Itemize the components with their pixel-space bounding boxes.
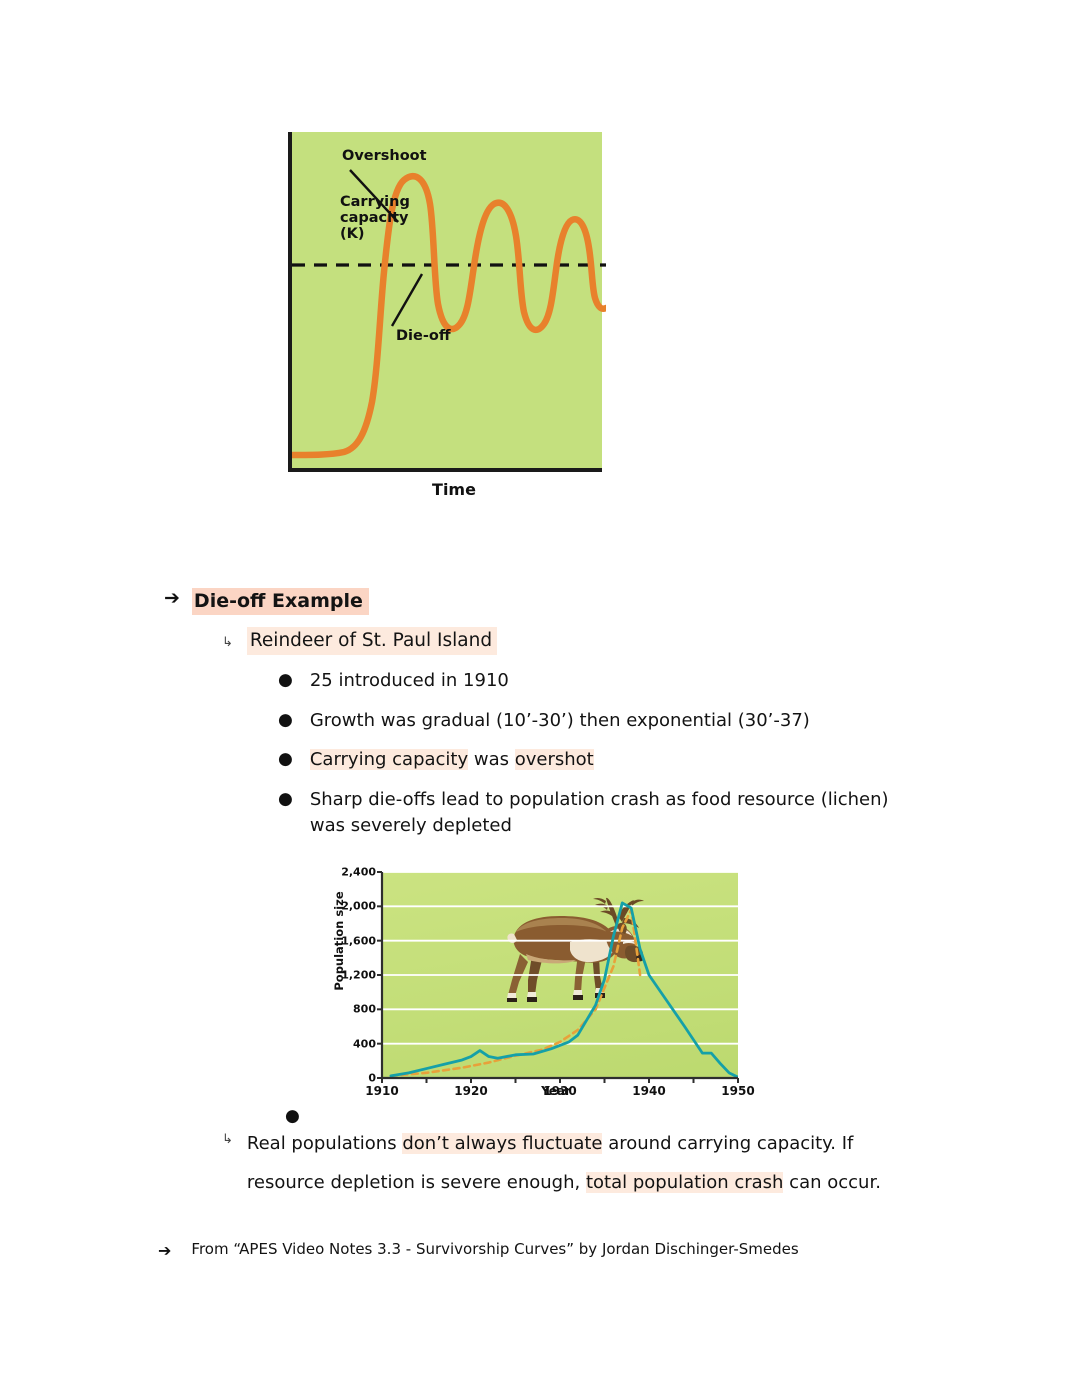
dieoff-annotation: Die-off: [396, 328, 451, 344]
figure1-plot-area: Overshoot Carrying capacity (K) Die-off: [288, 132, 602, 472]
highlight-overshot: overshot: [515, 749, 594, 770]
arrow-right-icon: ➔: [164, 589, 180, 608]
sub-arrow-icon: ↳: [222, 1133, 233, 1146]
list-item-label: Carrying capacity was overshot: [310, 747, 594, 773]
list-item-label: 25 introduced in 1910: [310, 668, 509, 694]
sub-arrow-icon: ↳: [222, 636, 233, 649]
list-item: ● Carrying capacity was overshot: [278, 747, 594, 773]
outline-closing-row: ↳ Real populations don’t always fluctuat…: [222, 1124, 922, 1202]
chart-y-tick-label: 0: [368, 1072, 376, 1085]
outline-closing-text: Real populations don’t always fluctuate …: [247, 1124, 922, 1202]
arrow-right-icon: ➔: [158, 1243, 171, 1259]
chart-y-tick-label: 2,400: [341, 866, 376, 879]
chart-y-tick-label: 1,200: [341, 969, 376, 982]
bullet-icon: ●: [278, 751, 293, 768]
dieoff-leader-line: [392, 274, 422, 326]
notes-page: Population size Overshoot Carrying capac…: [0, 0, 1080, 1397]
highlight-total-population-crash: total population crash: [586, 1172, 784, 1193]
carrying-capacity-annotation: Carrying capacity (K): [340, 194, 410, 243]
chart-y-tick-label: 400: [353, 1037, 376, 1050]
list-item: ● Sharp die-offs lead to population cras…: [278, 787, 918, 838]
outline-heading-row: ➔ Die-off Example: [164, 588, 369, 615]
list-item-label: Sharp die-offs lead to population crash …: [310, 787, 918, 838]
highlight-dont-always-fluctuate: don’t always fluctuate: [402, 1133, 602, 1154]
bullet-icon: ●: [285, 1106, 300, 1126]
bullet-icon: ●: [278, 672, 293, 689]
closing-seg-4: can occur.: [783, 1172, 880, 1193]
list-item: ● Growth was gradual (10’-30’) then expo…: [278, 708, 810, 734]
chart-axes-svg: [382, 872, 738, 1078]
reindeer-population-chart: Population size: [316, 866, 766, 1111]
outline-subheading-text: Reindeer of St. Paul Island: [247, 627, 497, 655]
source-attribution-text: From “APES Video Notes 3.3 - Survivorshi…: [191, 1240, 798, 1258]
list-item-label: Growth was gradual (10’-30’) then expone…: [310, 708, 810, 734]
bullet-icon: ●: [278, 712, 293, 729]
closing-seg-0: Real populations: [247, 1133, 402, 1154]
plain-was: was: [468, 749, 515, 770]
chart-y-tick-label: 2,000: [341, 900, 376, 913]
outline-subheading-row: ↳ Reindeer of St. Paul Island: [222, 627, 497, 655]
figure1-x-axis-label: Time: [364, 480, 544, 499]
overshoot-annotation: Overshoot: [342, 148, 427, 164]
source-attribution-row: ➔ From “APES Video Notes 3.3 - Survivors…: [158, 1240, 799, 1258]
chart-x-axis-label: Year: [366, 1084, 746, 1098]
chart-plot-wrapper: 04008001,2001,6002,0002,400 191019201930…: [382, 872, 738, 1078]
chart-y-tick-label: 1,600: [341, 934, 376, 947]
outline-heading-text: Die-off Example: [192, 588, 369, 615]
bullet-icon: ●: [278, 791, 293, 808]
overshoot-dieoff-figure: Population size Overshoot Carrying capac…: [252, 128, 612, 513]
figure1-curve-svg: [292, 132, 606, 472]
chart-y-tick-label: 800: [353, 1003, 376, 1016]
highlight-carrying-capacity: Carrying capacity: [310, 749, 468, 770]
list-item: ● 25 introduced in 1910: [278, 668, 509, 694]
